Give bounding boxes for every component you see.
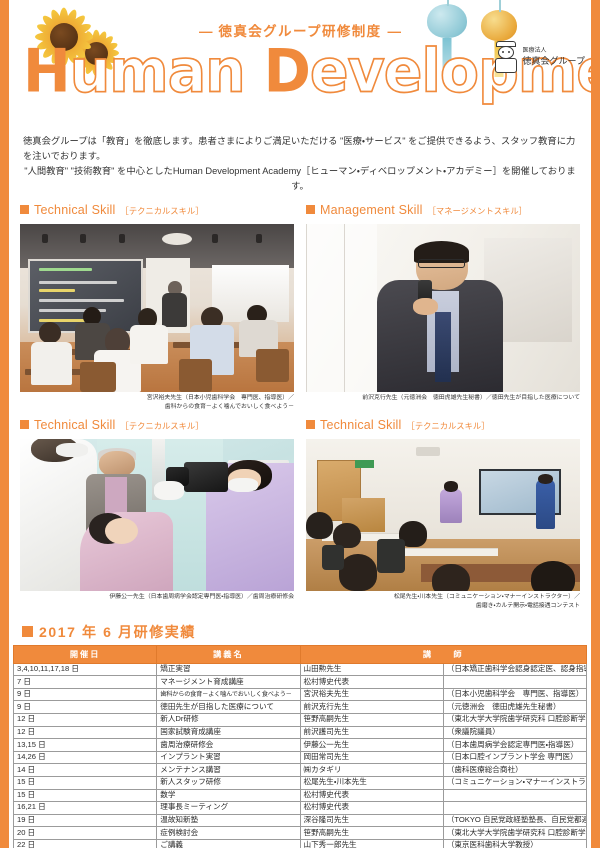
lecturer-body <box>162 293 187 327</box>
table-row: 22 日ご講義山下秀一郎先生（東京医科歯科大学教授） <box>14 839 587 848</box>
photo-caption-3: 伊藤公一先生（日本歯周病学会認定専門医・指導医）／歯周治療研修会 <box>20 593 294 602</box>
office-chair <box>377 539 404 572</box>
cell-organization: （歯科医療総合商社） <box>443 764 586 777</box>
cell-lecture-name: メンテナンス講習 <box>157 764 300 777</box>
cell-date: 3,4,10,11,17,18 日 <box>14 663 157 676</box>
wind-chime-string <box>499 0 501 12</box>
schedule-heading: 2017 年 6 月研修実績 <box>22 622 591 642</box>
cell-lecturer: 宮沢裕夫先生 <box>300 688 443 701</box>
cell-organization: （日本歯周病学会認定専門医・指導医） <box>443 739 586 752</box>
schedule-table-body: 3,4,10,11,17,18 日矯正実習山田勲先生（日本矯正歯科学会認身認定医… <box>14 663 587 848</box>
cell-organization: （コミュニケーション・マナーインストラクター） <box>443 776 586 789</box>
section-title-en: Technical Skill <box>320 418 402 432</box>
chair <box>179 359 212 393</box>
caption-line-1: 前沢克行先生（元徳洲会 徳田虎雄先生秘書）／徳田先生が目指した医療について <box>306 394 580 403</box>
section-title-en: Management Skill <box>320 203 423 217</box>
ceiling-spotlight <box>256 234 262 243</box>
chair <box>80 362 116 392</box>
caption-line-2: 歯科からの食育－よく噛んでおいしく食べよう－ <box>20 403 294 412</box>
intro-line-2: "人間教育" "技術教育" を中心としたHuman Development Ac… <box>23 164 577 194</box>
wall-panel <box>306 224 344 392</box>
cell-lecturer: 深谷隆司先生 <box>300 814 443 827</box>
cell-lecturer: 松村博史代表 <box>300 789 443 802</box>
cell-lecture-name: 歯科からの食育－よく噛んでおいしく食べよう－ <box>157 688 300 701</box>
classroom-presentation-photo <box>306 439 580 591</box>
slide-text-line <box>39 299 123 302</box>
page-header: —徳真会グループ研修制度— Human Development Academy … <box>9 0 591 128</box>
audience-body <box>130 325 168 364</box>
photo-block-1: 宮沢裕夫先生（日本小児歯科学会 専門医、指導医）／ 歯科からの食育－よく噛んでお… <box>20 224 294 415</box>
corporate-logo: 医療法人 徳真会グループ <box>493 40 585 74</box>
audience-head <box>83 307 101 325</box>
table-row: 15 日新人スタッフ研修松尾先生・川本先生（コミュニケーション・マナーインストラ… <box>14 776 587 789</box>
ceiling-spotlight <box>80 234 86 243</box>
schedule-table: 開催日 講義名 講 師 3,4,10,11,17,18 日矯正実習山田勲先生（日… <box>13 645 587 848</box>
cell-date: 7 日 <box>14 676 157 689</box>
brochure-page: —徳真会グループ研修制度— Human Development Academy … <box>0 0 600 848</box>
speaker-hand <box>413 298 438 315</box>
section-title-ja: ［テクニカルスキル］ <box>407 420 490 432</box>
cell-lecturer: 山下秀一郎先生 <box>300 839 443 848</box>
cell-organization: （日本口腔インプラント学会 専門医） <box>443 751 586 764</box>
caption-line-1: 松尾先生・川本先生（コミュニケーション・マナーインストラクター）／ <box>306 593 580 602</box>
cell-date: 20 日 <box>14 827 157 840</box>
cell-organization: （東北大学大学院歯学研究科 口腔診断学分野 教授） <box>443 714 586 727</box>
cell-date: 12 日 <box>14 714 157 727</box>
column-header-lecturer: 講 師 <box>300 645 587 663</box>
table-row: 9 日徳田先生が目指した医療について前沢克行先生（元徳洲会 徳田虎雄先生秘書） <box>14 701 587 714</box>
slide-text-line <box>39 281 117 284</box>
photo-caption-2: 前沢克行先生（元徳洲会 徳田虎雄先生秘書）／徳田先生が目指した医療について <box>306 394 580 403</box>
mascot-icon <box>493 40 519 74</box>
table-row: 7 日マネージメント育成講座松村博史代表 <box>14 676 587 689</box>
section-heading-technical-skill-2: Technical Skill ［テクニカルスキル］ <box>20 418 294 432</box>
cell-lecture-name: 矯正実習 <box>157 663 300 676</box>
title-uman: uman <box>70 37 245 106</box>
table-row: 14 日メンテナンス講習㈱カタギリ（歯科医療総合商社） <box>14 764 587 777</box>
audience-head <box>39 322 61 344</box>
dental-clinical-training-photo <box>20 439 294 591</box>
table-row: 16,21 日理事長ミーティング松村博史代表 <box>14 802 587 815</box>
cell-date: 22 日 <box>14 839 157 848</box>
cell-date: 13,15 日 <box>14 739 157 752</box>
logo-text: 医療法人 徳真会グループ <box>523 47 585 67</box>
seated-participant-figure <box>440 489 462 522</box>
cell-lecturer: 山田勲先生 <box>300 663 443 676</box>
cell-organization: （東京医科歯科大学教授） <box>443 839 586 848</box>
mascot-eye-left <box>502 51 504 53</box>
section-title-ja: ［テクニカルスキル］ <box>121 205 204 217</box>
photo-caption-1: 宮沢裕夫先生（日本小児歯科学会 専門医、指導医）／ 歯科からの食育－よく噛んでお… <box>20 394 294 412</box>
table-header-row: 開催日 講義名 講 師 <box>14 645 587 663</box>
cell-lecture-name: ご講義 <box>157 839 300 848</box>
patient-face <box>105 518 138 544</box>
intro-line-1: 徳真会グループは「教育」を徹底します。患者さまによりご満足いただける "医療・サ… <box>23 134 577 164</box>
cell-lecture-name: 症例検討会 <box>157 827 300 840</box>
table-row: 15 日数学松村博史代表 <box>14 789 587 802</box>
cell-lecture-name: 国家試験育成講座 <box>157 726 300 739</box>
cell-lecture-name: マネージメント育成講座 <box>157 676 300 689</box>
observer-shirt <box>105 477 127 517</box>
title-d: D <box>264 37 310 106</box>
office-chair <box>322 545 344 569</box>
cell-lecture-name: 徳田先生が目指した医療について <box>157 701 300 714</box>
section-heading-technical-skill-3: Technical Skill ［テクニカルスキル］ <box>306 418 580 432</box>
logo-line-1: 医療法人 <box>523 47 585 55</box>
assistant-mask <box>228 478 258 492</box>
audience-body <box>31 342 72 386</box>
table-row: 13,15 日歯周治療研修会伊藤公一先生（日本歯周病学会認定専門医・指導医） <box>14 739 587 752</box>
table-row: 3,4,10,11,17,18 日矯正実習山田勲先生（日本矯正歯科学会認身認定医… <box>14 663 587 676</box>
photo-block-3: 伊藤公一先生（日本歯周病学会認定専門医・指導医）／歯周治療研修会 <box>20 439 294 614</box>
section-title-ja: ［テクニカルスキル］ <box>121 420 204 432</box>
ceiling-projector-icon <box>416 447 441 456</box>
speaker-with-microphone-photo <box>306 224 580 392</box>
table-row: 9 日歯科からの食育－よく噛んでおいしく食べよう－宮沢裕夫先生（日本小児歯科学会… <box>14 688 587 701</box>
cell-lecture-name: 新人スタッフ研修 <box>157 776 300 789</box>
table-row: 20 日症例検討会笹野高嗣先生（東北大学大学院歯学研究科 口腔診断学分野 教授） <box>14 827 587 840</box>
cell-lecturer: 松村博史代表 <box>300 676 443 689</box>
camera-icon <box>184 462 228 492</box>
column-header-lecture: 講義名 <box>157 645 300 663</box>
cell-lecturer: 笹野高嗣先生 <box>300 714 443 727</box>
column-header-date: 開催日 <box>14 645 157 663</box>
slide-text-line <box>39 289 75 292</box>
title-h: H <box>23 37 70 106</box>
cell-date: 14 日 <box>14 764 157 777</box>
logo-line-2: 徳真会グループ <box>523 55 585 67</box>
ceiling-spotlight <box>119 234 125 243</box>
cell-date: 15 日 <box>14 789 157 802</box>
cell-organization: （元徳洲会 徳田虎雄先生秘書） <box>443 701 586 714</box>
square-bullet-icon <box>20 420 29 429</box>
cell-date: 16,21 日 <box>14 802 157 815</box>
schedule-title: 2017 年 6 月研修実績 <box>39 622 196 642</box>
cell-lecture-name: 歯周治療研修会 <box>157 739 300 752</box>
cell-organization: （衆議院議員） <box>443 726 586 739</box>
slide-text-line <box>39 268 92 271</box>
wall-panel <box>344 224 377 392</box>
dentist-mask <box>56 443 89 457</box>
cell-date: 14,26 日 <box>14 751 157 764</box>
cell-date: 9 日 <box>14 688 157 701</box>
ceiling-spotlight <box>42 234 48 243</box>
section-heading-technical-skill-1: Technical Skill ［テクニカルスキル］ <box>20 203 294 217</box>
mascot-eye-right <box>508 51 510 53</box>
cell-lecturer: 松村博史代表 <box>300 802 443 815</box>
photo-block-4: 松尾先生・川本先生（コミュニケーション・マナーインストラクター）／ 歯磨き・カル… <box>306 439 580 614</box>
cell-lecturer: 松尾先生・川本先生 <box>300 776 443 789</box>
cell-organization: （日本小児歯科学会 専門医、指導医） <box>443 688 586 701</box>
cell-lecture-name: 新人Dr研修 <box>157 714 300 727</box>
square-bullet-icon <box>306 420 315 429</box>
square-bullet-icon <box>20 205 29 214</box>
cell-date: 12 日 <box>14 726 157 739</box>
ceiling-spotlight <box>212 234 218 243</box>
cell-lecturer: 岡田常司先生 <box>300 751 443 764</box>
cell-organization: （日本矯正歯科学会認身認定医、認身指導医） <box>443 663 586 676</box>
audience-head <box>306 512 333 539</box>
table-row: 14,26 日インプラント実習岡田常司先生（日本口腔インプラント学会 専門医） <box>14 751 587 764</box>
gloved-hand <box>154 481 184 499</box>
table-row: 12 日国家試験育成講座前沢護司先生（衆議院議員） <box>14 726 587 739</box>
mascot-body <box>495 58 517 73</box>
seminar-room-lecture-photo <box>20 224 294 392</box>
caption-line-1: 伊藤公一先生（日本歯周病学会認定専門医・指導医）／歯周治療研修会 <box>20 593 294 602</box>
square-bullet-icon <box>306 205 315 214</box>
photo-block-2: 前沢克行先生（元徳洲会 徳田虎雄先生秘書）／徳田先生が目指した医療について <box>306 224 580 415</box>
photo-caption-4: 松尾先生・川本先生（コミュニケーション・マナーインストラクター）／ 歯磨き・カル… <box>306 593 580 611</box>
cell-lecture-name: 数学 <box>157 789 300 802</box>
caption-line-2: 歯磨き・カルテ開示・電話接遇コンテスト <box>306 602 580 611</box>
cell-organization: （TOKYO 自民党政経塾塾長、自民党都連最高顧問） <box>443 814 586 827</box>
section-title-en: Technical Skill <box>34 418 116 432</box>
chair <box>256 349 289 383</box>
presenter-figure <box>536 480 555 529</box>
cell-lecturer: ㈱カタギリ <box>300 764 443 777</box>
cell-lecture-name: 理事長ミーティング <box>157 802 300 815</box>
cell-organization <box>443 676 586 689</box>
section-title-en: Technical Skill <box>34 203 116 217</box>
cell-lecture-name: 温故知新塾 <box>157 814 300 827</box>
intro-paragraph: 徳真会グループは「教育」を徹底します。患者さまによりご満足いただける "医療・サ… <box>23 134 577 194</box>
square-bullet-icon <box>22 626 33 637</box>
table-row: 19 日温故知新塾深谷隆司先生（TOKYO 自民党政経塾塾長、自民党都連最高顧問… <box>14 814 587 827</box>
cell-date: 19 日 <box>14 814 157 827</box>
seated-participant-head <box>444 481 458 492</box>
caption-line-1: 宮沢裕夫先生（日本小児歯科学会 専門医、指導医）／ <box>20 394 294 403</box>
exit-sign-icon <box>355 460 374 468</box>
cell-date: 9 日 <box>14 701 157 714</box>
ceiling-lamp <box>162 233 192 245</box>
section-title-ja: ［マネージメントスキル］ <box>428 205 527 217</box>
speaker-tie <box>435 312 451 383</box>
cell-organization <box>443 802 586 815</box>
audience-head <box>339 554 377 590</box>
cell-lecturer: 前沢克行先生 <box>300 701 443 714</box>
section-heading-management-skill: Management Skill ［マネージメントスキル］ <box>306 203 580 217</box>
wind-chime-string <box>447 0 449 6</box>
cell-organization: （東北大学大学院歯学研究科 口腔診断学分野 教授） <box>443 827 586 840</box>
speaker-glasses <box>418 259 465 267</box>
schedule-table-head: 開催日 講義名 講 師 <box>14 645 587 663</box>
cell-date: 15 日 <box>14 776 157 789</box>
table-row: 12 日新人Dr研修笹野高嗣先生（東北大学大学院歯学研究科 口腔診断学分野 教授… <box>14 714 587 727</box>
audience-head <box>531 561 575 591</box>
cell-lecturer: 笹野高嗣先生 <box>300 827 443 840</box>
cell-lecture-name: インプラント実習 <box>157 751 300 764</box>
cell-lecturer: 前沢護司先生 <box>300 726 443 739</box>
presenter-head <box>538 474 553 485</box>
photo-grid: Technical Skill ［テクニカルスキル］ Management Sk… <box>20 203 580 613</box>
cell-organization <box>443 789 586 802</box>
cell-lecturer: 伊藤公一先生 <box>300 739 443 752</box>
